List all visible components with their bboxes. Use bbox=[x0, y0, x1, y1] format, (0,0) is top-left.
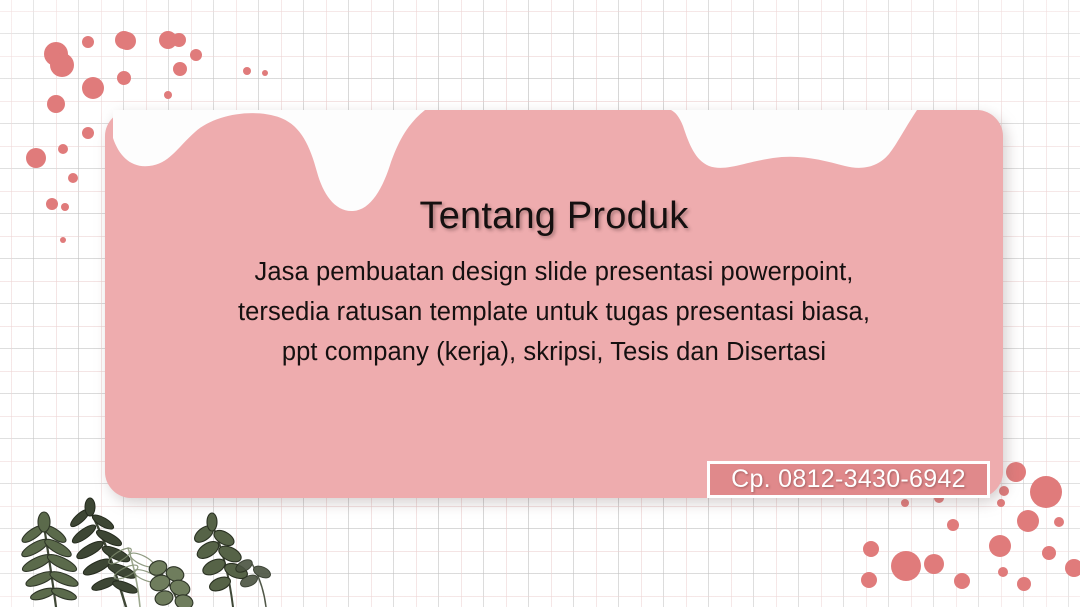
card-body-line-2: tersedia ratusan template untuk tugas pr… bbox=[105, 292, 1003, 332]
card-title: Tentang Produk bbox=[105, 195, 1003, 238]
card-body-line-3: ppt company (kerja), skripsi, Tesis dan … bbox=[105, 332, 1003, 372]
contact-badge[interactable]: Cp. 0812-3430-6942 bbox=[707, 461, 990, 498]
slide-canvas: Tentang Produk Jasa pembuatan design sli… bbox=[0, 0, 1080, 607]
card-body: Jasa pembuatan design slide presentasi p… bbox=[105, 252, 1003, 372]
card-body-line-1: Jasa pembuatan design slide presentasi p… bbox=[105, 252, 1003, 292]
card-text-block: Tentang Produk Jasa pembuatan design sli… bbox=[105, 110, 1003, 498]
